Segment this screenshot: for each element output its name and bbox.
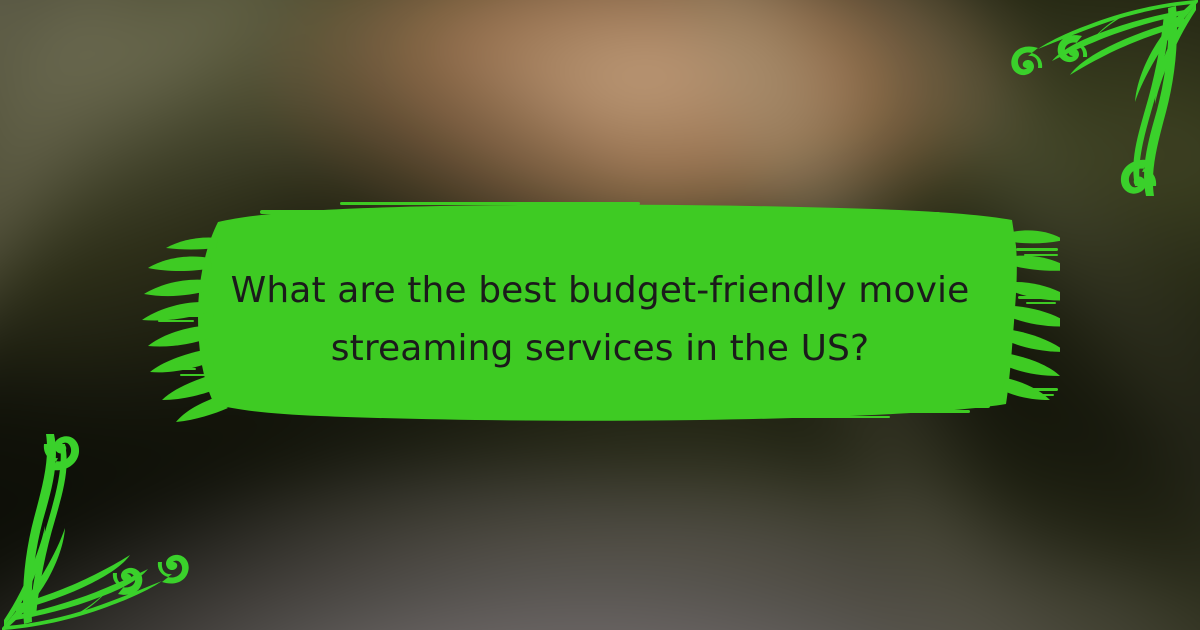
headline-line-1: What are the best budget-friendly movie: [170, 262, 1030, 320]
page-title: What are the best budget-friendly movie …: [170, 262, 1030, 378]
question-card: What are the best budget-friendly movie …: [0, 0, 1200, 630]
headline-line-2: streaming services in the US?: [170, 320, 1030, 378]
